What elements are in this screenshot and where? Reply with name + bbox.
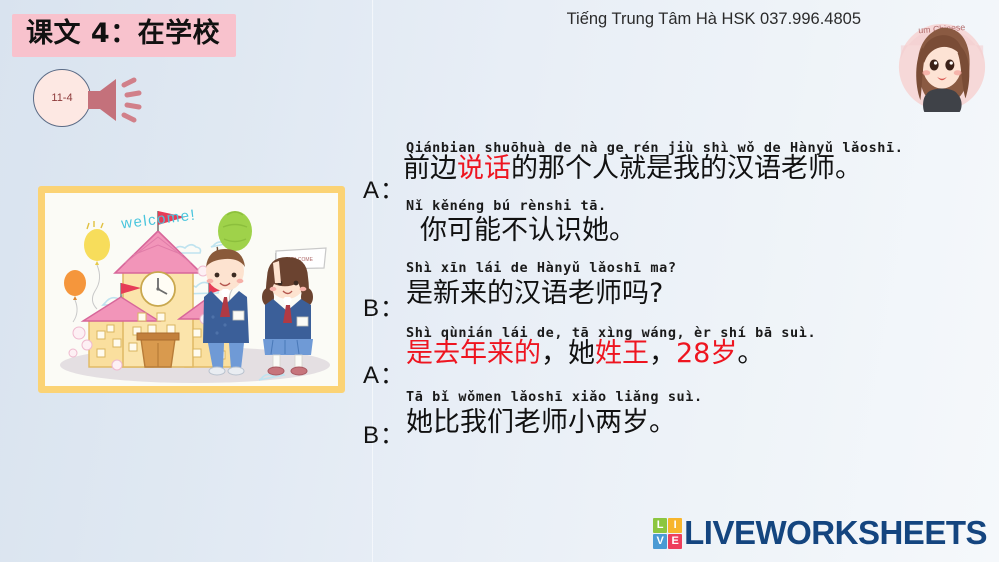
hanzi-seg-highlight: 是去年来的: [406, 338, 541, 369]
lesson-title-banner: 课文 4：在学校: [12, 14, 236, 57]
logo-wordmark: LIVEWORKSHEETS: [684, 514, 987, 552]
logo-tiles: L I V E: [653, 518, 682, 549]
pinyin-line: Shì xīn lái de Hànyǔ lǎoshī ma?: [406, 260, 976, 277]
hanzi-seg-highlight: 说话: [457, 153, 511, 184]
audio-track-button[interactable]: 11-4: [33, 69, 91, 127]
hanzi-line: 是去年来的，她姓王，28岁。: [406, 338, 998, 369]
logo-tile-e: E: [668, 534, 682, 549]
audio-track-label: 11-4: [51, 92, 72, 104]
speaker-label: B：: [363, 288, 405, 323]
hanzi-seg: 的那个人就是我的汉语老师。: [511, 153, 862, 184]
pinyin-line: Nǐ kěnéng bú rènshi tā.: [406, 198, 976, 215]
hanzi-line: 前边说话的那个人就是我的汉语老师。: [403, 153, 998, 184]
hanzi-seg: ，她: [541, 338, 595, 369]
speaker-icon[interactable]: [86, 77, 156, 123]
hanzi-seg: 前边: [403, 153, 457, 184]
audio-play-widget[interactable]: 11-4: [33, 69, 158, 129]
dialogue-turn: A： Qiánbian shuōhuà de nà ge rén jiù shì…: [358, 140, 998, 184]
dialogue-turn: Nǐ kěnéng bú rènshi tā. 你可能不认识她。: [358, 198, 998, 246]
brand-header-text: Tiếng Trung Tâm Hà HSK 037.996.4805: [567, 10, 861, 29]
dialogue-panel: A： Qiánbian shuōhuà de nà ge rén jiù shì…: [358, 140, 998, 441]
avatar: um Chinese: [893, 16, 991, 114]
hanzi-line: 你可能不认识她。: [420, 215, 998, 246]
hanzi-seg: ，: [649, 338, 676, 369]
hanzi-line: 是新来的汉语老师吗?: [406, 278, 998, 309]
speaker-label: B：: [363, 415, 405, 450]
slide-root: 课文 4：在学校 11-4 Tiếng Trung Tâm Hà HSK 037…: [0, 0, 999, 562]
hanzi-line: 她比我们老师小两岁。: [406, 407, 998, 438]
pinyin-line: Shì qùnián lái de, tā xìng wáng, èr shí …: [406, 325, 976, 342]
hanzi-seg: 是新来的汉语老师吗?: [406, 278, 663, 309]
hanzi-seg: 她比我们老师小两岁。: [406, 407, 676, 438]
dialogue-turn: B： Shì xīn lái de Hànyǔ lǎoshī ma? 是新来的汉…: [358, 260, 998, 309]
hanzi-seg-highlight: 28岁: [676, 338, 737, 369]
logo-tile-i: I: [668, 518, 682, 533]
pinyin-line: Tā bǐ wǒmen lǎoshī xiǎo liǎng suì.: [406, 389, 976, 406]
school-welcome-illustration: WELCOME: [38, 186, 345, 393]
hanzi-seg-highlight: 姓王: [595, 338, 649, 369]
liveworksheets-logo: L I V E LIVEWORKSHEETS: [653, 514, 987, 552]
hanzi-seg: 你可能不认识她。: [420, 215, 636, 246]
pinyin-line: Qiánbian shuōhuà de nà ge rén jiù shì wǒ…: [406, 140, 976, 157]
dialogue-turn: B： Tā bǐ wǒmen lǎoshī xiǎo liǎng suì. 她比…: [358, 389, 998, 438]
logo-tile-l: L: [653, 518, 667, 533]
page-title: 课文 4：在学校: [26, 19, 220, 49]
speaker-label: A：: [363, 355, 405, 390]
hanzi-seg: 。: [737, 338, 764, 369]
dialogue-turn: A： Shì qùnián lái de, tā xìng wáng, èr s…: [358, 325, 998, 369]
logo-tile-v: V: [653, 534, 667, 549]
